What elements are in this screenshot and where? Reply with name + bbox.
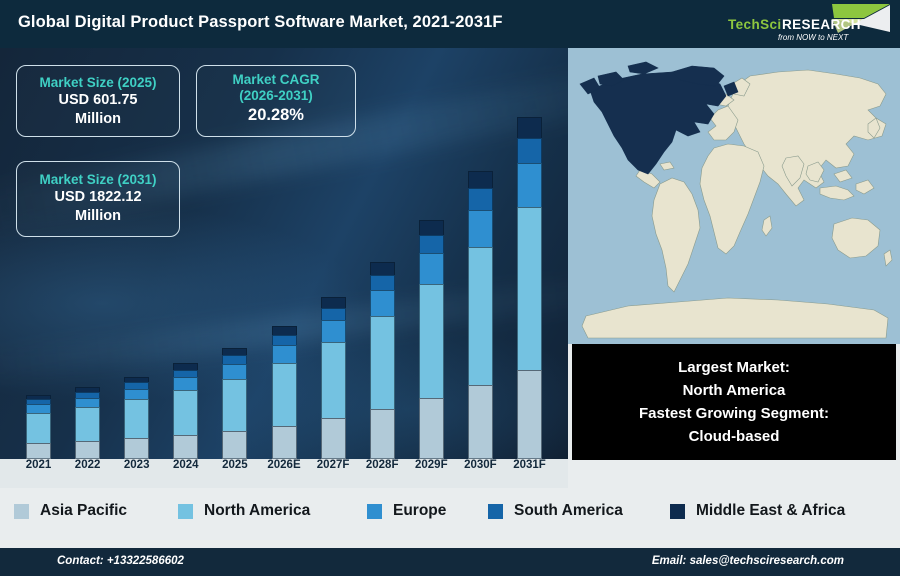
- bar-segment-europe-2028F: [370, 290, 395, 316]
- world-map-svg: [568, 48, 900, 344]
- footer-email: Email: sales@techsciresearch.com: [652, 555, 844, 567]
- x-axis-tick-2026E: 2026E: [261, 459, 307, 471]
- bar-2023: [124, 377, 149, 459]
- x-axis-tick-2023: 2023: [114, 459, 160, 471]
- legend-item-asia-pacific[interactable]: Asia Pacific: [14, 502, 127, 520]
- info-box-value: 20.28%: [197, 104, 355, 126]
- bar-2025: [222, 348, 247, 459]
- info-box-heading: Market CAGR: [197, 72, 355, 88]
- page-title: Global Digital Product Passport Software…: [18, 13, 503, 32]
- legend-swatch-icon: [367, 504, 382, 519]
- bar-segment-north-america-2025: [222, 379, 247, 431]
- bar-segment-asia-pacific-2027F: [321, 418, 346, 459]
- legend-swatch-icon: [178, 504, 193, 519]
- callout-box: Largest Market: North America Fastest Gr…: [572, 344, 896, 460]
- bar-2029F: [419, 220, 444, 459]
- bar-2021: [26, 395, 51, 459]
- x-axis-tick-2029F: 2029F: [408, 459, 454, 471]
- info-box-value: USD 601.75: [17, 91, 179, 110]
- bar-segment-north-america-2030F: [468, 247, 493, 385]
- legend-label: Middle East & Africa: [696, 502, 845, 520]
- bar-segment-north-america-2024: [173, 390, 198, 435]
- bar-2027F: [321, 297, 346, 459]
- bar-segment-europe-2029F: [419, 253, 444, 284]
- callout-fastest-segment-value: Cloud-based: [689, 425, 780, 448]
- bar-segment-north-america-2029F: [419, 284, 444, 398]
- bar-segment-asia-pacific-2025: [222, 431, 247, 459]
- info-box-subheading: (2026-2031): [197, 88, 355, 104]
- x-axis-tick-2021: 2021: [16, 459, 62, 471]
- bar-2026E: [272, 326, 297, 459]
- bar-segment-north-america-2028F: [370, 316, 395, 410]
- info-box-value: USD 1822.12: [17, 188, 179, 207]
- callout-fastest-segment-label: Fastest Growing Segment:: [639, 402, 829, 425]
- info-box-unit: Million: [17, 207, 179, 226]
- info-box-unit: Million: [17, 110, 179, 129]
- bar-segment-south-america-2025: [222, 355, 247, 364]
- footer-contact: Contact: +13322586602: [57, 555, 184, 567]
- bar-segment-south-america-2026E: [272, 335, 297, 346]
- bar-segment-europe-2025: [222, 364, 247, 379]
- bar-2028F: [370, 262, 395, 459]
- world-map-panel: [568, 48, 900, 344]
- svg-text:from NOW to NEXT: from NOW to NEXT: [778, 33, 849, 42]
- bar-segment-europe-2024: [173, 377, 198, 390]
- bar-segment-north-america-2027F: [321, 342, 346, 419]
- bar-2022: [75, 387, 100, 459]
- bar-segment-middle-east-africa-2026E: [272, 326, 297, 335]
- bar-segment-asia-pacific-2030F: [468, 385, 493, 459]
- legend-label: Asia Pacific: [40, 502, 127, 520]
- x-axis-tick-2025: 2025: [212, 459, 258, 471]
- bar-segment-asia-pacific-2031F: [517, 370, 542, 459]
- bar-segment-north-america-2022: [75, 407, 100, 441]
- bar-segment-middle-east-africa-2031F: [517, 117, 542, 138]
- bar-segment-south-america-2023: [124, 382, 149, 389]
- svg-text:RESEARCH: RESEARCH: [782, 17, 861, 32]
- info-box-market-size-2031: Market Size (2031) USD 1822.12 Million: [16, 161, 180, 237]
- bar-segment-south-america-2031F: [517, 138, 542, 164]
- legend-label: South America: [514, 502, 623, 520]
- bar-segment-asia-pacific-2023: [124, 438, 149, 459]
- bar-segment-asia-pacific-2022: [75, 441, 100, 459]
- x-axis-tick-2024: 2024: [163, 459, 209, 471]
- x-axis-tick-2022: 2022: [65, 459, 111, 471]
- legend-swatch-icon: [14, 504, 29, 519]
- legend-item-middle-east-africa[interactable]: Middle East & Africa: [670, 502, 845, 520]
- bar-segment-middle-east-africa-2027F: [321, 297, 346, 307]
- legend-label: North America: [204, 502, 310, 520]
- bar-segment-asia-pacific-2024: [173, 435, 198, 459]
- bar-segment-south-america-2028F: [370, 275, 395, 290]
- callout-largest-market-label: Largest Market:: [678, 356, 790, 379]
- x-axis-tick-2028F: 2028F: [359, 459, 405, 471]
- header-bar: Global Digital Product Passport Software…: [0, 0, 900, 48]
- bar-segment-europe-2022: [75, 398, 100, 407]
- bar-segment-south-america-2024: [173, 370, 198, 378]
- bar-segment-north-america-2021: [26, 413, 51, 443]
- chart-legend: Asia PacificNorth AmericaEuropeSouth Ame…: [0, 488, 900, 534]
- bar-segment-asia-pacific-2029F: [419, 398, 444, 459]
- bar-segment-europe-2023: [124, 389, 149, 400]
- bar-segment-asia-pacific-2026E: [272, 426, 297, 459]
- bar-segment-asia-pacific-2021: [26, 443, 51, 459]
- chart-panel: Market Size (2025) USD 601.75 Million Ma…: [0, 48, 568, 488]
- bar-segment-europe-2021: [26, 404, 51, 412]
- x-axis: 202120222023202420252026E2027F2028F2029F…: [0, 458, 568, 488]
- bar-segment-middle-east-africa-2030F: [468, 171, 493, 188]
- legend-label: Europe: [393, 502, 446, 520]
- legend-swatch-icon: [488, 504, 503, 519]
- legend-item-south-america[interactable]: South America: [488, 502, 623, 520]
- bar-segment-asia-pacific-2028F: [370, 409, 395, 459]
- legend-item-europe[interactable]: Europe: [367, 502, 446, 520]
- bar-segment-north-america-2031F: [517, 207, 542, 370]
- x-axis-tick-2030F: 2030F: [457, 459, 503, 471]
- bar-segment-north-america-2023: [124, 399, 149, 438]
- bar-2024: [173, 363, 198, 459]
- bar-segment-europe-2027F: [321, 320, 346, 341]
- legend-swatch-icon: [670, 504, 685, 519]
- footer-bar: Contact: +13322586602 Email: sales@techs…: [0, 548, 900, 576]
- bar-segment-middle-east-africa-2028F: [370, 262, 395, 274]
- bar-2030F: [468, 171, 493, 459]
- bar-segment-europe-2031F: [517, 163, 542, 207]
- info-box-market-size-2025: Market Size (2025) USD 601.75 Million: [16, 65, 180, 137]
- info-box-heading: Market Size (2031): [17, 172, 179, 188]
- bar-segment-europe-2026E: [272, 345, 297, 363]
- bar-segment-south-america-2029F: [419, 235, 444, 253]
- svg-text:TechSci: TechSci: [728, 17, 782, 32]
- bar-segment-south-america-2027F: [321, 308, 346, 321]
- x-axis-tick-2031F: 2031F: [507, 459, 553, 471]
- legend-item-north-america[interactable]: North America: [178, 502, 310, 520]
- info-box-market-cagr: Market CAGR (2026-2031) 20.28%: [196, 65, 356, 137]
- x-axis-tick-2027F: 2027F: [310, 459, 356, 471]
- info-box-heading: Market Size (2025): [17, 75, 179, 91]
- bar-segment-south-america-2030F: [468, 188, 493, 210]
- techsci-research-logo: TechSci RESEARCH from NOW to NEXT: [714, 2, 892, 46]
- bar-segment-middle-east-africa-2025: [222, 348, 247, 355]
- bar-segment-middle-east-africa-2029F: [419, 220, 444, 235]
- bar-segment-europe-2030F: [468, 210, 493, 247]
- bar-segment-north-america-2026E: [272, 363, 297, 426]
- bar-2031F: [517, 117, 542, 459]
- callout-largest-market-value: North America: [683, 379, 786, 402]
- infographic-page: Global Digital Product Passport Software…: [0, 0, 900, 576]
